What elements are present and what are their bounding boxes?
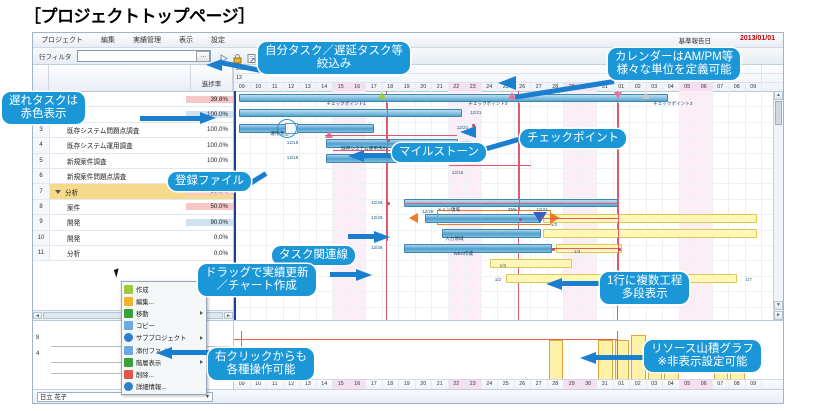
grid-header-id [33, 65, 49, 91]
gantt-date-label: 12/28 [422, 209, 434, 214]
milestone-checkpoint-3-icon[interactable] [642, 92, 650, 99]
row-progress: 39.8% [186, 96, 233, 103]
info-icon [124, 382, 133, 391]
resource-ytick-4: 4 [36, 351, 39, 357]
resource-axis-day: 24 [482, 380, 499, 389]
gantt-progress-label: 25% [508, 207, 517, 212]
task-link-line [404, 203, 619, 204]
row-task-name: 新規案件問題点調査 [50, 171, 186, 181]
menu-item-edit[interactable]: 編集 [101, 35, 115, 45]
arrow-late-task [140, 112, 218, 124]
context-menu-item-label: コピー [136, 321, 155, 330]
resource-axis-day: 11 [267, 380, 284, 389]
callout-calendar: カレンダーはAM/PM等 様々な単位を定義可能 [608, 48, 740, 80]
resource-axis-day: 16 [350, 380, 367, 389]
row-filter-input[interactable]: ... [77, 50, 211, 62]
row-task-name-text: 新規案件問題点調査 [67, 171, 126, 181]
row-id: 7 [33, 184, 50, 198]
edit-icon [124, 297, 133, 306]
gantt-date-label: 12/31 [536, 207, 548, 212]
subproject-icon [124, 333, 133, 342]
arrow-resource [580, 351, 646, 365]
arrow-multi-row [546, 277, 604, 291]
callout-multi-row: 1行に複数工程 多段表示 [600, 272, 689, 304]
gantt-date-label: 1/7 [746, 277, 752, 282]
row-id: 11 [33, 246, 50, 260]
page-title: ［プロジェクトトップページ］ [24, 2, 255, 27]
menu-item-actuals[interactable]: 実績管理 [133, 35, 161, 45]
gantt-vscroll-thumb[interactable] [775, 101, 782, 125]
task-link-line [325, 135, 457, 136]
delete-icon [124, 370, 133, 379]
gantt-bar-label: メイン領域 [437, 207, 460, 213]
resource-day-column [366, 321, 383, 380]
gantt-row-line [234, 106, 783, 107]
row-task-name-text: 既存システム問題点調査 [67, 125, 139, 135]
resource-axis-day: 20 [416, 380, 433, 389]
row-task-name-text: 既存システム運用調査 [67, 140, 133, 150]
grid-header-name [49, 65, 191, 91]
scroll-right-button[interactable]: ► [224, 312, 233, 319]
arrow-filter [206, 56, 262, 70]
resource-axis-day: 26 [515, 380, 532, 389]
row-task-name: 開発 [50, 217, 186, 227]
capacity-line [234, 339, 241, 340]
report-date-label: 基準報告日 [679, 35, 712, 45]
gantt-date-label: 12/18 [287, 140, 299, 145]
resource-day-column [564, 321, 581, 380]
table-row[interactable]: 11分析0.0% [33, 246, 233, 261]
resource-day-column [317, 321, 334, 380]
gantt-bar-label: 入力領域 [445, 236, 463, 242]
arrow-right-click [156, 346, 212, 360]
row-id: 4 [33, 138, 50, 152]
arrow-calendar [498, 76, 614, 90]
gantt-bar-label: チェックポイント2 [468, 101, 507, 107]
resource-day-column [449, 321, 466, 380]
capacity-line [241, 339, 617, 340]
resource-day-column [482, 321, 499, 380]
row-id: 10 [33, 231, 50, 245]
row-id: 3 [33, 123, 50, 137]
menu-item-settings[interactable]: 設定 [211, 35, 225, 45]
callout-link-line: タスク関連線 [272, 246, 355, 265]
context-menu-item-7[interactable]: 削除... [122, 368, 206, 380]
context-menu-item-label: 編集... [136, 297, 154, 306]
gantt-date-label: 12/26 [371, 245, 383, 250]
gantt-date-label: 1/3 [500, 263, 506, 268]
submenu-arrow-icon [200, 360, 203, 364]
resource-day-column [432, 321, 449, 380]
resource-ytick-8: 8 [36, 335, 39, 341]
resource-axis-day: 09 [746, 380, 763, 389]
expander-triangle-icon[interactable] [55, 190, 61, 194]
row-task-name-text: 新規案件調査 [67, 156, 107, 166]
task-link-line [552, 248, 618, 249]
row-task-name: 開発 [50, 233, 186, 243]
task-bar-wbs[interactable] [404, 244, 553, 253]
context-menu-item-label: 詳細情報... [136, 382, 166, 391]
row-progress: 100.0% [186, 126, 233, 133]
resource-axis-day: 02 [630, 380, 647, 389]
resource-axis-day: 10 [251, 380, 268, 389]
table-row[interactable]: 10開発0.0% [33, 231, 233, 246]
milestone-report-icon[interactable] [614, 92, 622, 99]
resource-day-column [350, 321, 367, 380]
submenu-arrow-icon [200, 311, 203, 315]
resource-axis-day: 06 [696, 380, 713, 389]
resource-axis-day: 22 [449, 380, 466, 389]
gantt-date-label: 12/26 [371, 215, 383, 220]
gantt-date-label: 12/18 [452, 170, 464, 175]
resource-axis-day: 19 [399, 380, 416, 389]
table-row[interactable]: 9開発90.0% [33, 215, 233, 230]
context-menu-item-8[interactable]: 詳細情報... [122, 381, 206, 393]
resource-axis-day: 17 [366, 380, 383, 389]
callout-milestone: マイルストーン [392, 143, 486, 162]
row-task-name: 既存システム問題点調査 [50, 125, 186, 135]
resource-axis-day: 08 [729, 380, 746, 389]
resource-axis-day: 09 [234, 380, 251, 389]
resource-day-column [531, 321, 548, 380]
context-menu-item-0[interactable]: 作成 [122, 283, 206, 295]
resource-axis-day: 15 [333, 380, 350, 389]
context-menu[interactable]: 作成編集...移動コピーサブプロジェクト添付ファイル...階層表示削除...詳細… [121, 281, 207, 395]
row-progress: 50.0% [186, 203, 233, 210]
callout-right-click: 右クリックからも 各種操作可能 [208, 348, 314, 380]
milestone-checkpoint-1-icon[interactable] [378, 92, 386, 99]
resource-day-column [416, 321, 433, 380]
arrow-link-line [348, 230, 392, 244]
gantt-bar-label: チェックポイント3 [653, 101, 692, 107]
grid-header: 進捗率 [33, 65, 233, 92]
table-row[interactable]: 5新規案件調査100.0% [33, 154, 233, 169]
callout-file: 登録ファイル [168, 172, 251, 191]
context-menu-item-4[interactable]: サブプロジェクト [122, 332, 206, 344]
resource-axis-day: 23 [465, 380, 482, 389]
table-row[interactable]: 3既存システム問題点調査100.0% [33, 123, 233, 138]
gantt-day-column [746, 91, 763, 320]
gantt-date-label: 12/26 [371, 200, 383, 205]
gantt-bar-label: チェックポイント1 [326, 101, 365, 107]
callout-drag: ドラッグで実績更新 ／チャート作成 [198, 264, 316, 296]
gantt-row-line [234, 291, 783, 292]
resource-axis-day: 07 [713, 380, 730, 389]
copy-icon [124, 321, 133, 330]
gantt-date-label: 12/21 [470, 110, 482, 115]
context-menu-item-label: サブプロジェクト [136, 333, 186, 342]
resource-axis-day: 12 [284, 380, 301, 389]
gantt-scroll-right-button[interactable]: ► [774, 311, 783, 320]
resource-bar [549, 340, 564, 380]
row-id: 9 [33, 215, 50, 229]
context-menu-item-label: 移動 [136, 309, 149, 318]
gantt-vscrollbar[interactable]: ▲ ▼ ► [773, 91, 783, 320]
row-id: 5 [33, 154, 50, 168]
row-task-name: 新規案件調査 [50, 156, 186, 166]
resource-axis-day: 28 [548, 380, 565, 389]
row-task-name-text: 案件 [67, 202, 80, 212]
context-menu-item-3[interactable]: コピー [122, 320, 206, 332]
menu-item-view[interactable]: 表示 [179, 35, 193, 45]
row-task-name-text: 開発 [67, 217, 80, 227]
row-task-name-text: 分析 [67, 248, 80, 258]
resource-axis-day: 21 [432, 380, 449, 389]
attachment-icon [124, 346, 133, 355]
task-link-line [387, 103, 388, 131]
gantt-scroll-down-button[interactable]: ▼ [774, 301, 783, 310]
scroll-left-button[interactable]: ◄ [33, 312, 42, 319]
row-progress: 0.0% [186, 234, 233, 241]
resource-axis-day: 31 [597, 380, 614, 389]
plan-bar-nyuuryoku[interactable] [543, 229, 758, 238]
arrow-drag [330, 268, 376, 282]
resource-day-column [383, 321, 400, 380]
hierarchy-icon [124, 358, 133, 367]
context-menu-item-2[interactable]: 移動 [122, 307, 206, 319]
resource-day-column [399, 321, 416, 380]
row-progress: 100.0% [186, 142, 233, 149]
gantt-bar-label: WBS作成 [453, 251, 473, 257]
resource-axis-day: 30 [581, 380, 598, 389]
resource-axis-day: 13 [300, 380, 317, 389]
menu-item-project[interactable]: プロジェクト [41, 35, 83, 45]
gantt-date-label: 1/3 [574, 249, 580, 254]
gantt-date-label: 12/18 [287, 155, 299, 160]
resource-axis-day: 29 [564, 380, 581, 389]
gantt-row-line [234, 183, 783, 184]
gantt-row-line [234, 153, 783, 154]
gantt-scroll-up-button[interactable]: ▲ [774, 91, 783, 100]
owner-name: 日立 花子 [40, 392, 67, 401]
table-row[interactable]: 8案件50.0% [33, 200, 233, 215]
resource-day-column [333, 321, 350, 380]
file-highlight-circle [277, 119, 297, 138]
task-link-line [541, 218, 619, 219]
resource-axis-day: 27 [531, 380, 548, 389]
gantt-day-column [729, 91, 746, 320]
row-task-name: 既存システム運用調査 [50, 140, 186, 150]
row-task-name-text: 開発 [67, 233, 80, 243]
arrow-milestone [348, 149, 398, 163]
gantt-date-label: 1/2 [551, 222, 557, 227]
row-id: 6 [33, 169, 50, 183]
context-menu-item-label: 作成 [136, 285, 149, 294]
resource-day-column [465, 321, 482, 380]
resource-day-column [498, 321, 515, 380]
gantt-row-line [234, 307, 783, 308]
row-task-name: 分析 [50, 187, 186, 197]
resource-axis-day: 03 [647, 380, 664, 389]
move-icon [124, 309, 133, 318]
drag-handle-left-icon[interactable] [409, 213, 418, 223]
create-icon [124, 285, 133, 294]
callout-late-task: 遅れタスクは 赤色表示 [2, 92, 85, 124]
gantt-chart[interactable]: 20122013 1201 09101112131415161718192021… [234, 65, 783, 320]
callout-checkpoint: チェックポイント [520, 129, 626, 148]
resource-day-column [515, 321, 532, 380]
resource-axis-day: 05 [680, 380, 697, 389]
context-menu-item-label: 削除... [136, 370, 154, 379]
summary-bar-1[interactable] [239, 94, 668, 102]
callout-resource: リソース山積グラフ ※非表示設定可能 [644, 340, 761, 372]
resource-axis-day: 04 [663, 380, 680, 389]
task-bar-unyou-araidashi[interactable] [239, 124, 374, 133]
row-progress: 90.0% [186, 219, 233, 226]
resource-axis-day: 18 [383, 380, 400, 389]
resource-axis-day: 14 [317, 380, 334, 389]
summary-bar-2[interactable] [239, 109, 462, 117]
resource-axis-day: 01 [614, 380, 631, 389]
context-menu-item-1[interactable]: 編集... [122, 295, 206, 307]
table-row[interactable]: 4既存システム運用調査100.0% [33, 138, 233, 153]
row-progress: 0.0% [186, 250, 233, 257]
resource-day-axis: 0910111213141516171819202122232425262728… [234, 379, 783, 389]
gantt-date-label: 1/2 [495, 277, 501, 282]
task-link-line [449, 165, 532, 166]
row-task-name: 案件 [50, 202, 186, 212]
resource-axis-day: 25 [498, 380, 515, 389]
row-id: 8 [33, 200, 50, 214]
report-date-value: 2013/01/01 [740, 35, 775, 42]
gantt-day-column [713, 91, 730, 320]
callout-filter: 自分タスク／遅延タスク等 絞込み [258, 42, 410, 74]
gantt-day-column [696, 91, 713, 320]
row-task-name: 分析 [50, 248, 186, 258]
gantt-row-line [234, 168, 783, 169]
row-task-name-text: 分析 [65, 187, 78, 197]
row-filter-label: 行フィルタ [39, 51, 71, 61]
submenu-arrow-icon [200, 336, 203, 340]
